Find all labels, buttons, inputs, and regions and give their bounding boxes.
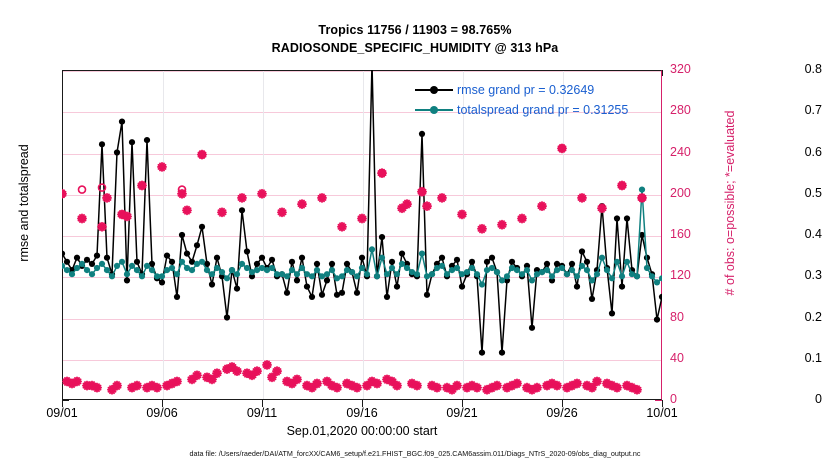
obs-evaluated-marker [498, 221, 506, 229]
series-marker [624, 215, 630, 221]
series-marker [309, 273, 315, 279]
series-marker [289, 259, 295, 265]
legend-marker-rmse [415, 83, 453, 97]
series-marker [244, 248, 250, 254]
series-marker [314, 267, 320, 273]
series-marker [329, 261, 335, 267]
series-marker [454, 257, 460, 263]
series-marker [374, 273, 380, 279]
series-marker [144, 263, 150, 269]
obs-evaluated-marker [338, 223, 346, 231]
obs-evaluated-marker [278, 208, 286, 216]
series-marker [159, 273, 165, 279]
series-marker [414, 271, 420, 277]
series-marker [99, 261, 105, 267]
series-marker [579, 263, 585, 269]
series-marker [659, 275, 665, 281]
series-marker [239, 207, 245, 213]
series-marker [459, 284, 465, 290]
series-marker [369, 61, 375, 67]
series-marker [299, 255, 305, 261]
series-marker [124, 277, 130, 283]
series-marker [439, 263, 445, 269]
series-marker [399, 251, 405, 257]
series-marker [634, 273, 640, 279]
obs-evaluated-marker [78, 215, 86, 223]
obs-evaluated-marker [358, 215, 366, 223]
series-marker [119, 119, 125, 125]
series-marker [569, 261, 575, 267]
series-marker [314, 261, 320, 267]
series-marker [129, 139, 135, 145]
series-marker [134, 259, 140, 265]
series-marker [609, 275, 615, 281]
series-marker [214, 265, 220, 271]
series-marker [339, 290, 345, 296]
series-marker [209, 271, 215, 277]
series-marker [489, 255, 495, 261]
y-axis-label-left: rmse and totalspread [17, 93, 31, 313]
series-marker [189, 267, 195, 273]
series-marker [89, 261, 95, 267]
series-marker [234, 271, 240, 277]
series-marker [609, 310, 615, 316]
series-marker [364, 271, 370, 277]
series-marker [134, 267, 140, 273]
legend-item-totalspread[interactable]: totalspread grand pr = 0.31255 [415, 100, 628, 120]
series-marker [164, 253, 170, 259]
series-marker [624, 259, 630, 265]
obs-evaluated-marker [158, 163, 166, 171]
series-marker [584, 259, 590, 265]
series-marker [139, 273, 145, 279]
series-marker [324, 277, 330, 283]
series-marker [79, 261, 85, 267]
series-marker [379, 255, 385, 261]
series-marker [354, 290, 360, 296]
obs-possible-marker [79, 186, 86, 193]
series-marker [444, 271, 450, 277]
series-marker [519, 271, 525, 277]
series-marker [324, 271, 330, 277]
obs-evaluated-marker [538, 202, 546, 210]
series-marker [584, 267, 590, 273]
y-axis-label-right: # of obs: o=possible; *=evaluated [723, 73, 737, 333]
series-marker [179, 259, 185, 265]
series-marker [579, 248, 585, 254]
series-marker [59, 251, 65, 257]
legend-marker-totalspread [415, 103, 453, 117]
series-marker [269, 257, 275, 263]
series-marker [209, 281, 215, 287]
series-marker [619, 284, 625, 290]
series-marker [119, 259, 125, 265]
series-marker [354, 273, 360, 279]
chart-page: Tropics 11756 / 11903 = 98.765% RADIOSON… [0, 0, 830, 470]
series-marker [304, 284, 310, 290]
series-marker [369, 246, 375, 252]
legend-item-rmse[interactable]: rmse grand pr = 0.32649 [415, 80, 628, 100]
series-marker [544, 261, 550, 267]
series-marker [214, 255, 220, 261]
series-marker [659, 294, 665, 300]
series-marker [114, 149, 120, 155]
series-marker [384, 271, 390, 277]
series-marker [464, 269, 470, 275]
series-marker [489, 265, 495, 271]
obs-evaluated-marker [258, 190, 266, 198]
series-marker [129, 263, 135, 269]
series-marker [194, 242, 200, 248]
series-marker [94, 265, 100, 271]
series-marker [439, 255, 445, 261]
series-marker [159, 279, 165, 285]
series-marker [294, 271, 300, 277]
series-marker [99, 141, 105, 147]
series-marker [424, 292, 430, 298]
series-marker [544, 267, 550, 273]
series-marker [284, 290, 290, 296]
series-marker [619, 273, 625, 279]
series-marker [234, 286, 240, 292]
series-marker [404, 265, 410, 271]
series-marker [204, 267, 210, 273]
series-marker [394, 271, 400, 277]
series-marker [169, 259, 175, 265]
obs-evaluated-marker [318, 194, 326, 202]
series-marker [149, 267, 155, 273]
series-marker [419, 251, 425, 257]
series-marker [84, 267, 90, 273]
series-marker [654, 279, 660, 285]
series-marker [614, 215, 620, 221]
series-marker [344, 261, 350, 267]
obs-evaluated-marker [438, 194, 446, 202]
series-marker [64, 259, 70, 265]
series-marker [394, 284, 400, 290]
series-marker [494, 269, 500, 275]
series-marker [514, 267, 520, 273]
obs-evaluated-marker [263, 361, 271, 369]
data-file-footer: data file: /Users/raeder/DAI/ATM_forcXX/… [0, 449, 830, 458]
series-marker [239, 261, 245, 267]
series-marker [499, 350, 505, 356]
series-marker [199, 259, 205, 265]
series-marker [569, 267, 575, 273]
series-marker [294, 277, 300, 283]
series-marker [199, 224, 205, 230]
series-marker [594, 271, 600, 277]
legend-label-totalspread: totalspread grand pr = 0.31255 [457, 103, 628, 117]
series-marker [94, 253, 100, 259]
series-marker [379, 234, 385, 240]
data-series-layer [0, 0, 830, 470]
obs-evaluated-marker [183, 206, 191, 214]
legend-label-rmse: rmse grand pr = 0.32649 [457, 83, 594, 97]
series-marker [469, 265, 475, 271]
series-marker [359, 255, 365, 261]
obs-evaluated-marker [298, 200, 306, 208]
series-marker [389, 259, 395, 265]
series-marker [349, 269, 355, 275]
obs-evaluated-marker [238, 194, 246, 202]
series-marker [259, 255, 265, 261]
series-marker [89, 271, 95, 277]
series-marker [614, 259, 620, 265]
series-marker [389, 265, 395, 271]
series-marker [254, 261, 260, 267]
series-marker [104, 267, 110, 273]
series-marker [64, 267, 70, 273]
series-marker [84, 257, 90, 263]
series-marker [179, 232, 185, 238]
chart-legend: rmse grand pr = 0.32649 totalspread gran… [415, 80, 628, 120]
series-marker [289, 267, 295, 273]
series-marker [74, 255, 80, 261]
series-marker [269, 265, 275, 271]
series-marker [469, 259, 475, 265]
obs-evaluated-marker [458, 210, 466, 218]
series-marker [174, 271, 180, 277]
series-marker [74, 265, 80, 271]
series-marker [574, 273, 580, 279]
series-marker [454, 265, 460, 271]
series-marker [174, 294, 180, 300]
obs-evaluated-marker [518, 215, 526, 223]
series-marker [144, 137, 150, 143]
series-marker [229, 267, 235, 273]
series-marker [589, 277, 595, 283]
series-marker [399, 261, 405, 267]
series-marker [604, 267, 610, 273]
series-marker [219, 269, 225, 275]
series-marker [109, 273, 115, 279]
series-marker [484, 259, 490, 265]
obs-evaluated-marker [218, 208, 226, 216]
series-marker [124, 271, 130, 277]
series-marker [419, 131, 425, 137]
series-marker [474, 271, 480, 277]
series-marker [104, 255, 110, 261]
series-marker [649, 273, 655, 279]
series-marker [359, 265, 365, 271]
series-marker [69, 271, 75, 277]
series-marker [599, 255, 605, 261]
series-marker [509, 259, 515, 265]
series-marker [224, 314, 230, 320]
obs-evaluated-marker [578, 194, 586, 202]
series-marker [299, 265, 305, 271]
series-marker [644, 265, 650, 271]
series-marker [479, 350, 485, 356]
series-marker [564, 271, 570, 277]
series-marker [224, 275, 230, 281]
series-marker [339, 273, 345, 279]
series-marker [309, 294, 315, 300]
series-marker [654, 317, 660, 323]
series-marker [169, 265, 175, 271]
series-marker [574, 284, 580, 290]
series-marker [114, 263, 120, 269]
series-marker [384, 294, 390, 300]
series-marker [529, 277, 535, 283]
series-marker [504, 273, 510, 279]
series-marker [184, 251, 190, 257]
series-marker [524, 267, 530, 273]
series-marker [479, 281, 485, 287]
series-marker [319, 292, 325, 298]
x-axis-label: Sep.01,2020 00:00:00 start [62, 424, 662, 438]
series-marker [639, 187, 645, 193]
series-marker [499, 277, 505, 283]
series-marker [329, 267, 335, 273]
obs-evaluated-marker [478, 225, 486, 233]
series-marker [429, 271, 435, 277]
series-marker [589, 296, 595, 302]
series-marker [59, 263, 65, 269]
series-marker [284, 273, 290, 279]
series-marker [549, 273, 555, 279]
series-marker [244, 265, 250, 271]
series-marker [529, 325, 535, 331]
series-marker [559, 265, 565, 271]
